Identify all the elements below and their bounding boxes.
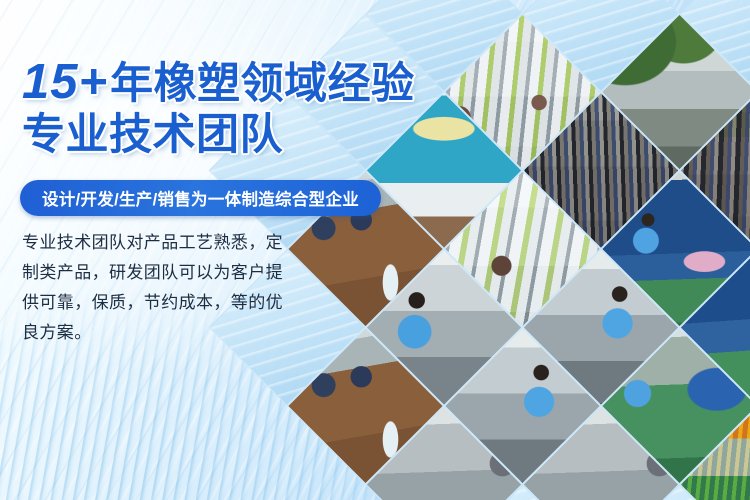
headline-line-1-text: 年橡塑领域经验 [110, 60, 415, 108]
text-block: 15+年橡塑领域经验 专业技术团队 设计/开发/生产/销售为一体制造综合型企业 … [0, 0, 420, 500]
headline-line-1: 15+年橡塑领域经验 [22, 57, 415, 109]
headline-line-2: 专业技术团队 [22, 110, 283, 160]
description-paragraph: 专业技术团队对产品工艺熟悉，定制类产品，研发团队可以为客户提供可靠，保质，节约成… [22, 228, 292, 348]
years-number: 15+ [22, 55, 110, 109]
capability-badge: 设计/开发/生产/销售为一体制造综合型企业 [20, 180, 381, 216]
promo-banner: 15+年橡塑领域经验 专业技术团队 设计/开发/生产/销售为一体制造综合型企业 … [0, 0, 750, 500]
